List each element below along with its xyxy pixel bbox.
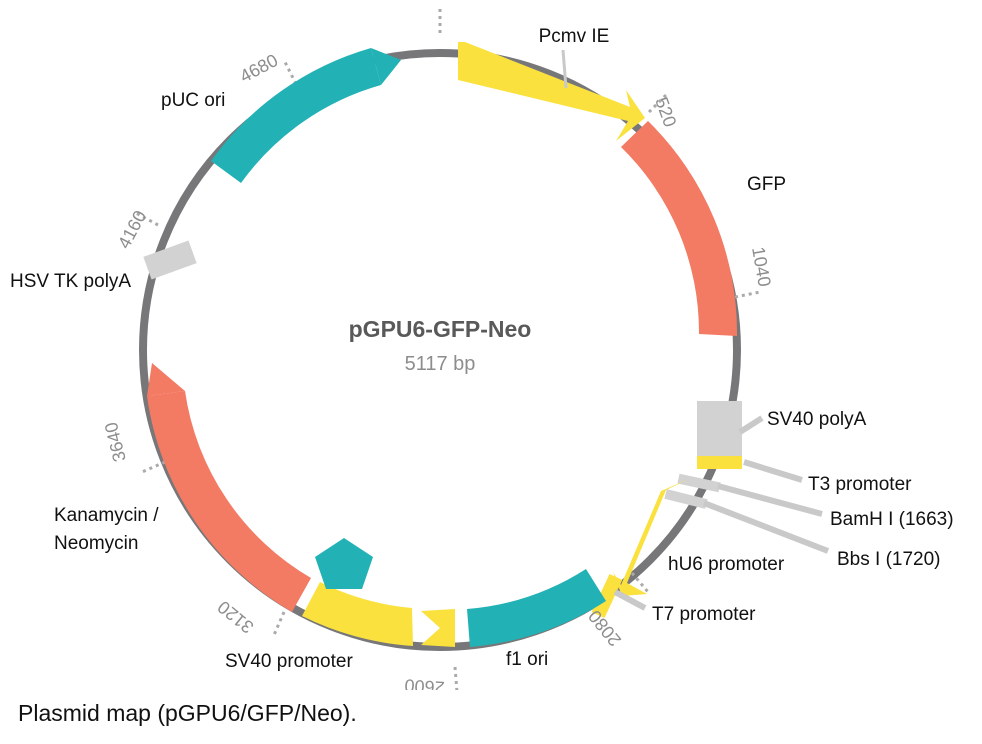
feature-hsv-tk-polya-box[interactable] [143,241,196,280]
tick-label-4160: 4160 [114,207,150,252]
label-bbsi-site: Bbs I (1720) [837,549,941,570]
label-gfp: GFP [747,174,786,195]
feature-gfp-shape [621,121,737,336]
tick-mark-3120 [274,612,284,635]
label-pcmv-ie: Pcmv IE [539,26,610,47]
label-sv40-promoter: SV40 promoter [225,651,353,672]
feature-pcmv-ie-shape [458,42,645,141]
feature-kanamycin-neomycin[interactable] [147,363,311,612]
feature-unlabeled-arrow[interactable] [421,609,455,647]
feature-sv40-promoter[interactable] [302,582,413,646]
label-bamhi-site: BamH I (1663) [830,509,954,530]
feature-unlabeled-arrow-shape [421,609,455,647]
plasmid-map-svg: pGPU6-GFP-Neo 5117 bp Pcmv IE GFP SV40 p… [0,0,982,690]
label-t3-promoter: T3 promoter [808,474,912,495]
label-hu6-promoter: hU6 promoter [668,554,785,575]
feature-gfp[interactable] [621,121,737,336]
leader-line-sv40-polya [740,418,762,432]
tick-label-1040: 1040 [748,245,775,288]
label-f1-ori: f1 ori [506,649,548,670]
label-kanamycin-neomycin-line2: Neomycin [54,533,138,554]
feature-kanamycin-neomycin-arrowhead [147,363,185,396]
tick-label-3120: 3120 [214,597,258,638]
tick-label-4680: 4680 [236,50,281,86]
plasmid-name: pGPU6-GFP-Neo [349,316,532,342]
tick-mark-1040 [735,292,760,297]
tick-mark-4680 [285,62,296,84]
figure-caption: Plasmid map (pGPU6/GFP/Neo). [18,700,357,727]
label-hsv-tk-polya: HSV TK polyA [10,271,131,292]
feature-sv40-polya-box[interactable] [697,401,742,456]
feature-kanamycin-neomycin-arc [147,391,311,612]
tick-label-3640: 3640 [101,420,130,464]
label-sv40-polya: SV40 polyA [767,409,867,430]
feature-f1-ori-shape [467,569,606,647]
leader-line-bamhi [718,486,822,514]
feature-pcmv-ie[interactable] [458,42,645,141]
tick-mark-2600 [455,667,457,690]
tick-label-2600: 2600 [404,675,445,690]
plasmid-size: 5117 bp [405,353,476,375]
feature-t3-promoter-box[interactable] [697,456,742,469]
feature-f1-ori[interactable] [467,569,606,647]
feature-sv40-promoter-shape [302,582,413,646]
label-puc-ori: pUC ori [161,90,225,111]
label-kanamycin-neomycin-line1: Kanamycin / [54,505,159,526]
feature-teal-pentagon-marker[interactable] [315,538,373,589]
leader-line-t3-promoter [744,462,802,480]
label-t7-promoter: T7 promoter [652,604,756,625]
tick-label-520: 520 [651,95,680,130]
tick-label-2080: 2080 [584,606,625,650]
plasmid-map-container: pGPU6-GFP-Neo 5117 bp Pcmv IE GFP SV40 p… [0,0,982,690]
